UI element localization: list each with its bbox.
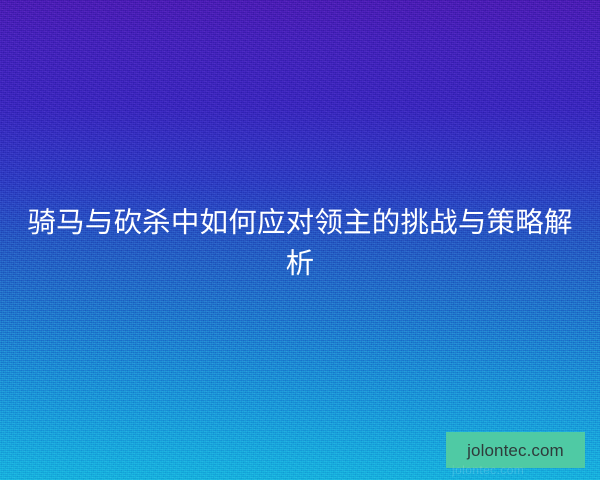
page-title: 骑马与砍杀中如何应对领主的挑战与策略解析	[0, 203, 600, 285]
watermark-badge: jolontec.com	[446, 432, 585, 468]
cover-image-canvas: 骑马与砍杀中如何应对领主的挑战与策略解析 jolontec.com jolont…	[0, 0, 600, 480]
watermark-site-label: jolontec.com	[467, 442, 564, 459]
